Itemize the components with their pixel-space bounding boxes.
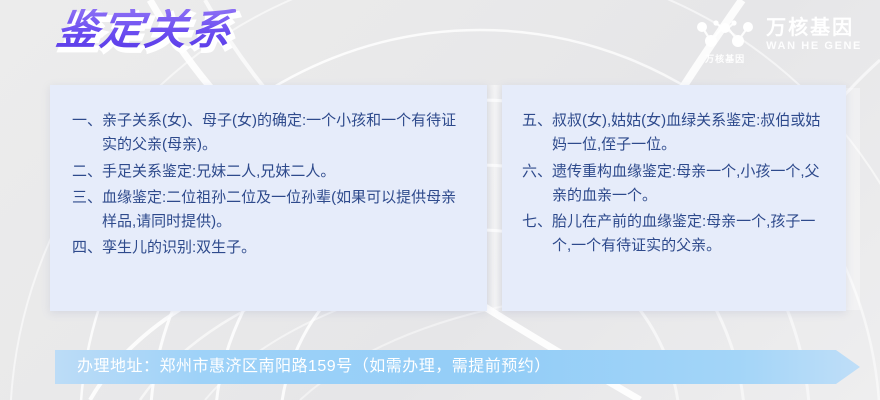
list-item: 三、 血缘鉴定:二位祖孙二位及一位孙辈(如果可以提供母亲样品,请同时提供)。 bbox=[72, 186, 471, 235]
list-item: 六、 遗传重构血缘鉴定:母亲一个,小孩一个,父亲的血亲一个。 bbox=[522, 160, 832, 209]
list-item-number: 五、 bbox=[522, 109, 552, 133]
list-item: 二、 手足关系鉴定:兄妹二人,兄妹二人。 bbox=[72, 160, 471, 184]
relationship-panel-right: 五、 叔叔(女),姑姑(女)血绿关系鉴定:叔伯或姑妈一位,侄子一位。 六、 遗传… bbox=[502, 85, 846, 311]
list-item-number: 六、 bbox=[522, 160, 552, 184]
logo-mark: 万核基因 bbox=[694, 14, 756, 65]
list-item-number: 七、 bbox=[522, 210, 552, 234]
list-item-text: 亲子关系(女)、母子(女)的确定:一个小孩和一个有待证实的父亲(母亲)。 bbox=[102, 109, 471, 158]
list-item-text: 血缘鉴定:二位祖孙二位及一位孙辈(如果可以提供母亲样品,请同时提供)。 bbox=[102, 186, 471, 235]
brand-logo: 万核基因 万核基因 WAN HE GENE bbox=[694, 14, 862, 65]
address-banner-text: 办理地址：郑州市惠济区南阳路159号（如需办理，需提前预约） bbox=[55, 350, 860, 384]
list-item-number: 二、 bbox=[72, 160, 102, 184]
molecule-icon bbox=[694, 17, 756, 49]
page-title: 鉴定关系 鉴定关系 bbox=[57, 9, 233, 51]
list-item-text: 叔叔(女),姑姑(女)血绿关系鉴定:叔伯或姑妈一位,侄子一位。 bbox=[552, 109, 832, 158]
list-item: 五、 叔叔(女),姑姑(女)血绿关系鉴定:叔伯或姑妈一位,侄子一位。 bbox=[522, 109, 832, 158]
list-item-number: 一、 bbox=[72, 109, 102, 133]
list-item-text: 孪生儿的识别:双生子。 bbox=[102, 236, 471, 260]
list-item-text: 遗传重构血缘鉴定:母亲一个,小孩一个,父亲的血亲一个。 bbox=[552, 160, 832, 209]
page-title-text: 鉴定关系 bbox=[54, 9, 237, 51]
list-item: 一、 亲子关系(女)、母子(女)的确定:一个小孩和一个有待证实的父亲(母亲)。 bbox=[72, 109, 471, 158]
poster-root: 鉴定关系 鉴定关系 bbox=[0, 0, 880, 400]
panel-right-content: 五、 叔叔(女),姑姑(女)血绿关系鉴定:叔伯或姑妈一位,侄子一位。 六、 遗传… bbox=[502, 85, 846, 259]
list-item-text: 手足关系鉴定:兄妹二人,兄妹二人。 bbox=[102, 160, 471, 184]
logo-name-en: WAN HE GENE bbox=[766, 41, 862, 52]
list-item-number: 三、 bbox=[72, 186, 102, 210]
logo-text: 万核基因 WAN HE GENE bbox=[766, 14, 862, 52]
list-item-text: 胎儿在产前的血缘鉴定:母亲一个,孩子一个,一个有待证实的父亲。 bbox=[552, 210, 832, 259]
logo-mark-label: 万核基因 bbox=[705, 52, 745, 65]
list-item: 四、 孪生儿的识别:双生子。 bbox=[72, 236, 471, 260]
list-item: 七、 胎儿在产前的血缘鉴定:母亲一个,孩子一个,一个有待证实的父亲。 bbox=[522, 210, 832, 259]
panel-left-content: 一、 亲子关系(女)、母子(女)的确定:一个小孩和一个有待证实的父亲(母亲)。 … bbox=[50, 85, 487, 261]
list-item-number: 四、 bbox=[72, 236, 102, 260]
address-banner: 办理地址：郑州市惠济区南阳路159号（如需办理，需提前预约） bbox=[55, 350, 860, 384]
logo-name-cn: 万核基因 bbox=[766, 18, 862, 39]
relationship-panel-left: 一、 亲子关系(女)、母子(女)的确定:一个小孩和一个有待证实的父亲(母亲)。 … bbox=[50, 85, 487, 311]
